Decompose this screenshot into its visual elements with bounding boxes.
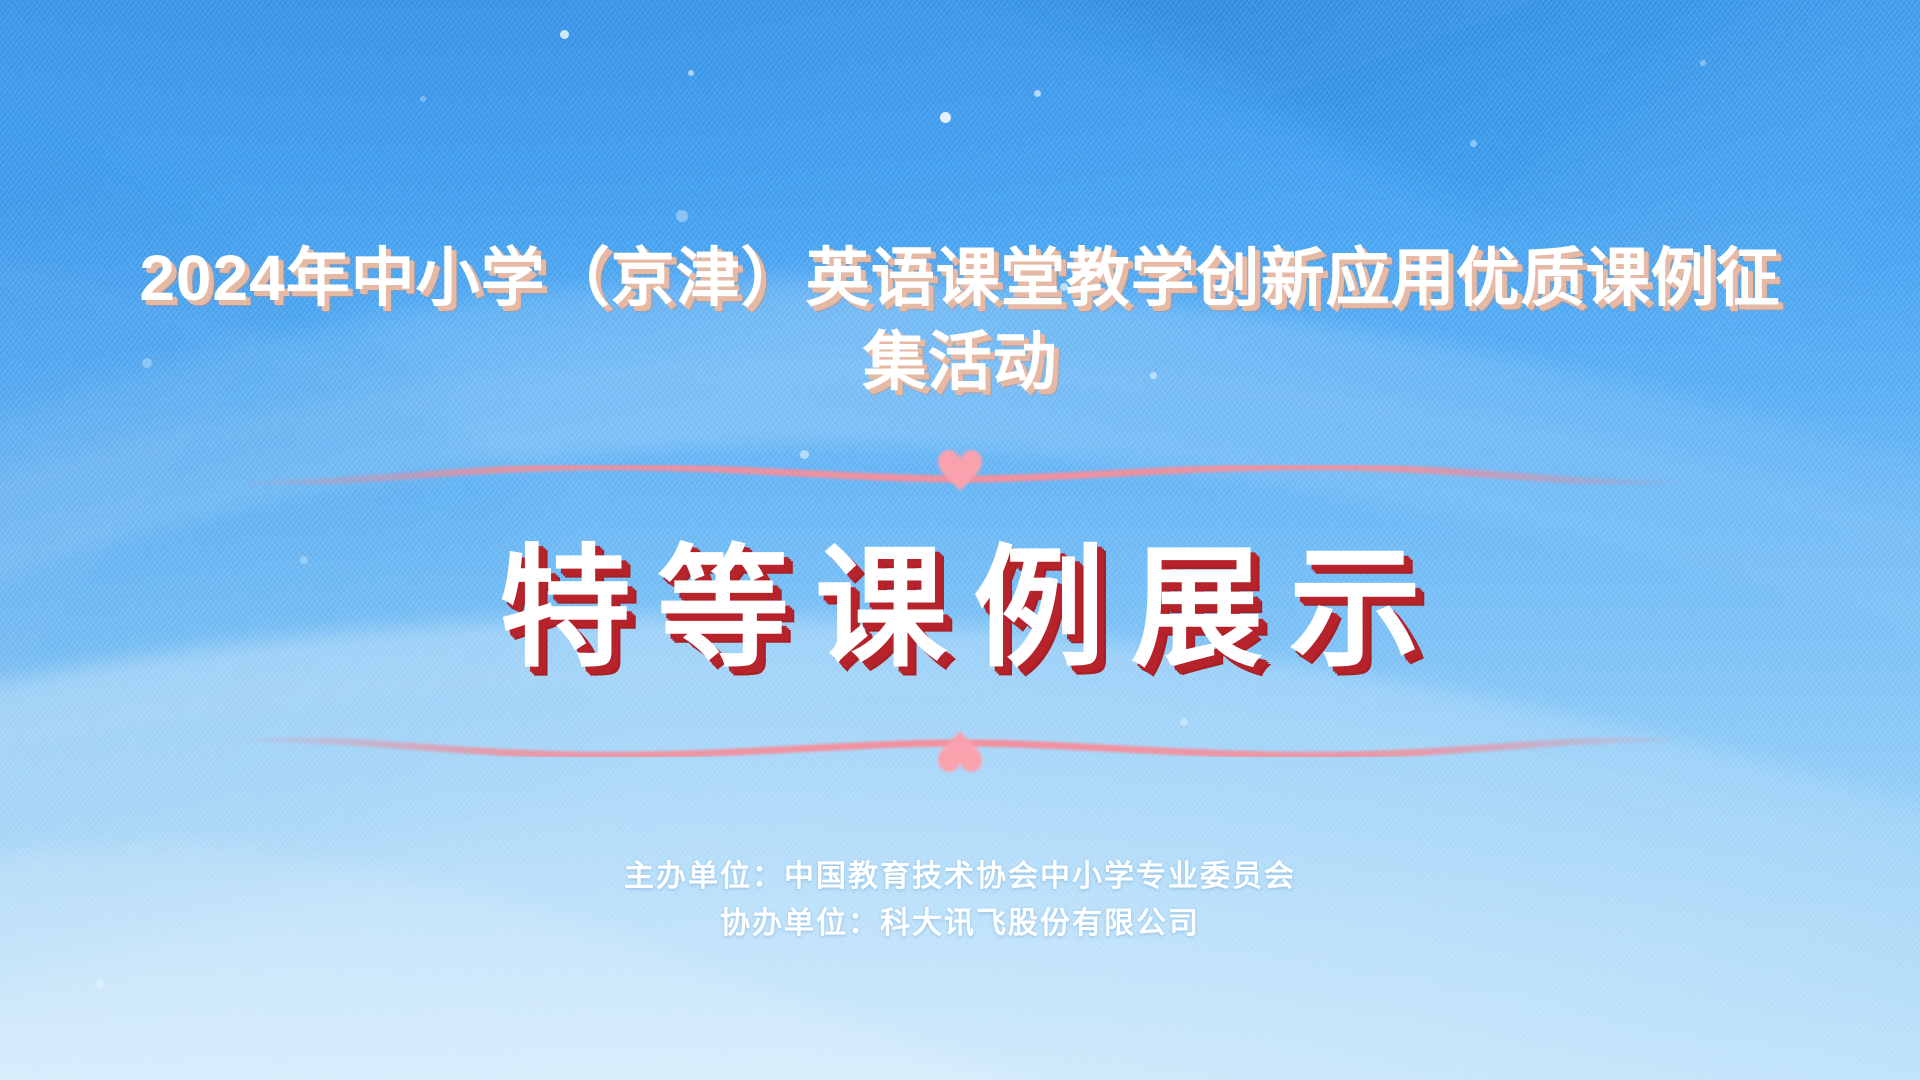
event-title: 2024年中小学（京津）英语课堂教学创新应用优质课例征集活动 [110,236,1810,405]
divider-bottom [250,713,1670,773]
organizer-line: 主办单位：中国教育技术协会中小学专业委员会 [624,853,1296,900]
poster-content: 2024年中小学（京津）英语课堂教学创新应用优质课例征集活动 [0,0,1920,1080]
coorganizer-line: 协办单位：科大讯飞股份有限公司 [624,900,1296,947]
heart-icon [938,450,982,491]
poster-slide: 2024年中小学（京津）英语课堂教学创新应用优质课例征集活动 [0,0,1920,1080]
heart-icon [938,731,982,772]
divider-top [250,449,1670,509]
footer-credits: 主办单位：中国教育技术协会中小学专业委员会 协办单位：科大讯飞股份有限公司 [624,853,1296,948]
headline: 特等课例展示 [473,535,1447,683]
